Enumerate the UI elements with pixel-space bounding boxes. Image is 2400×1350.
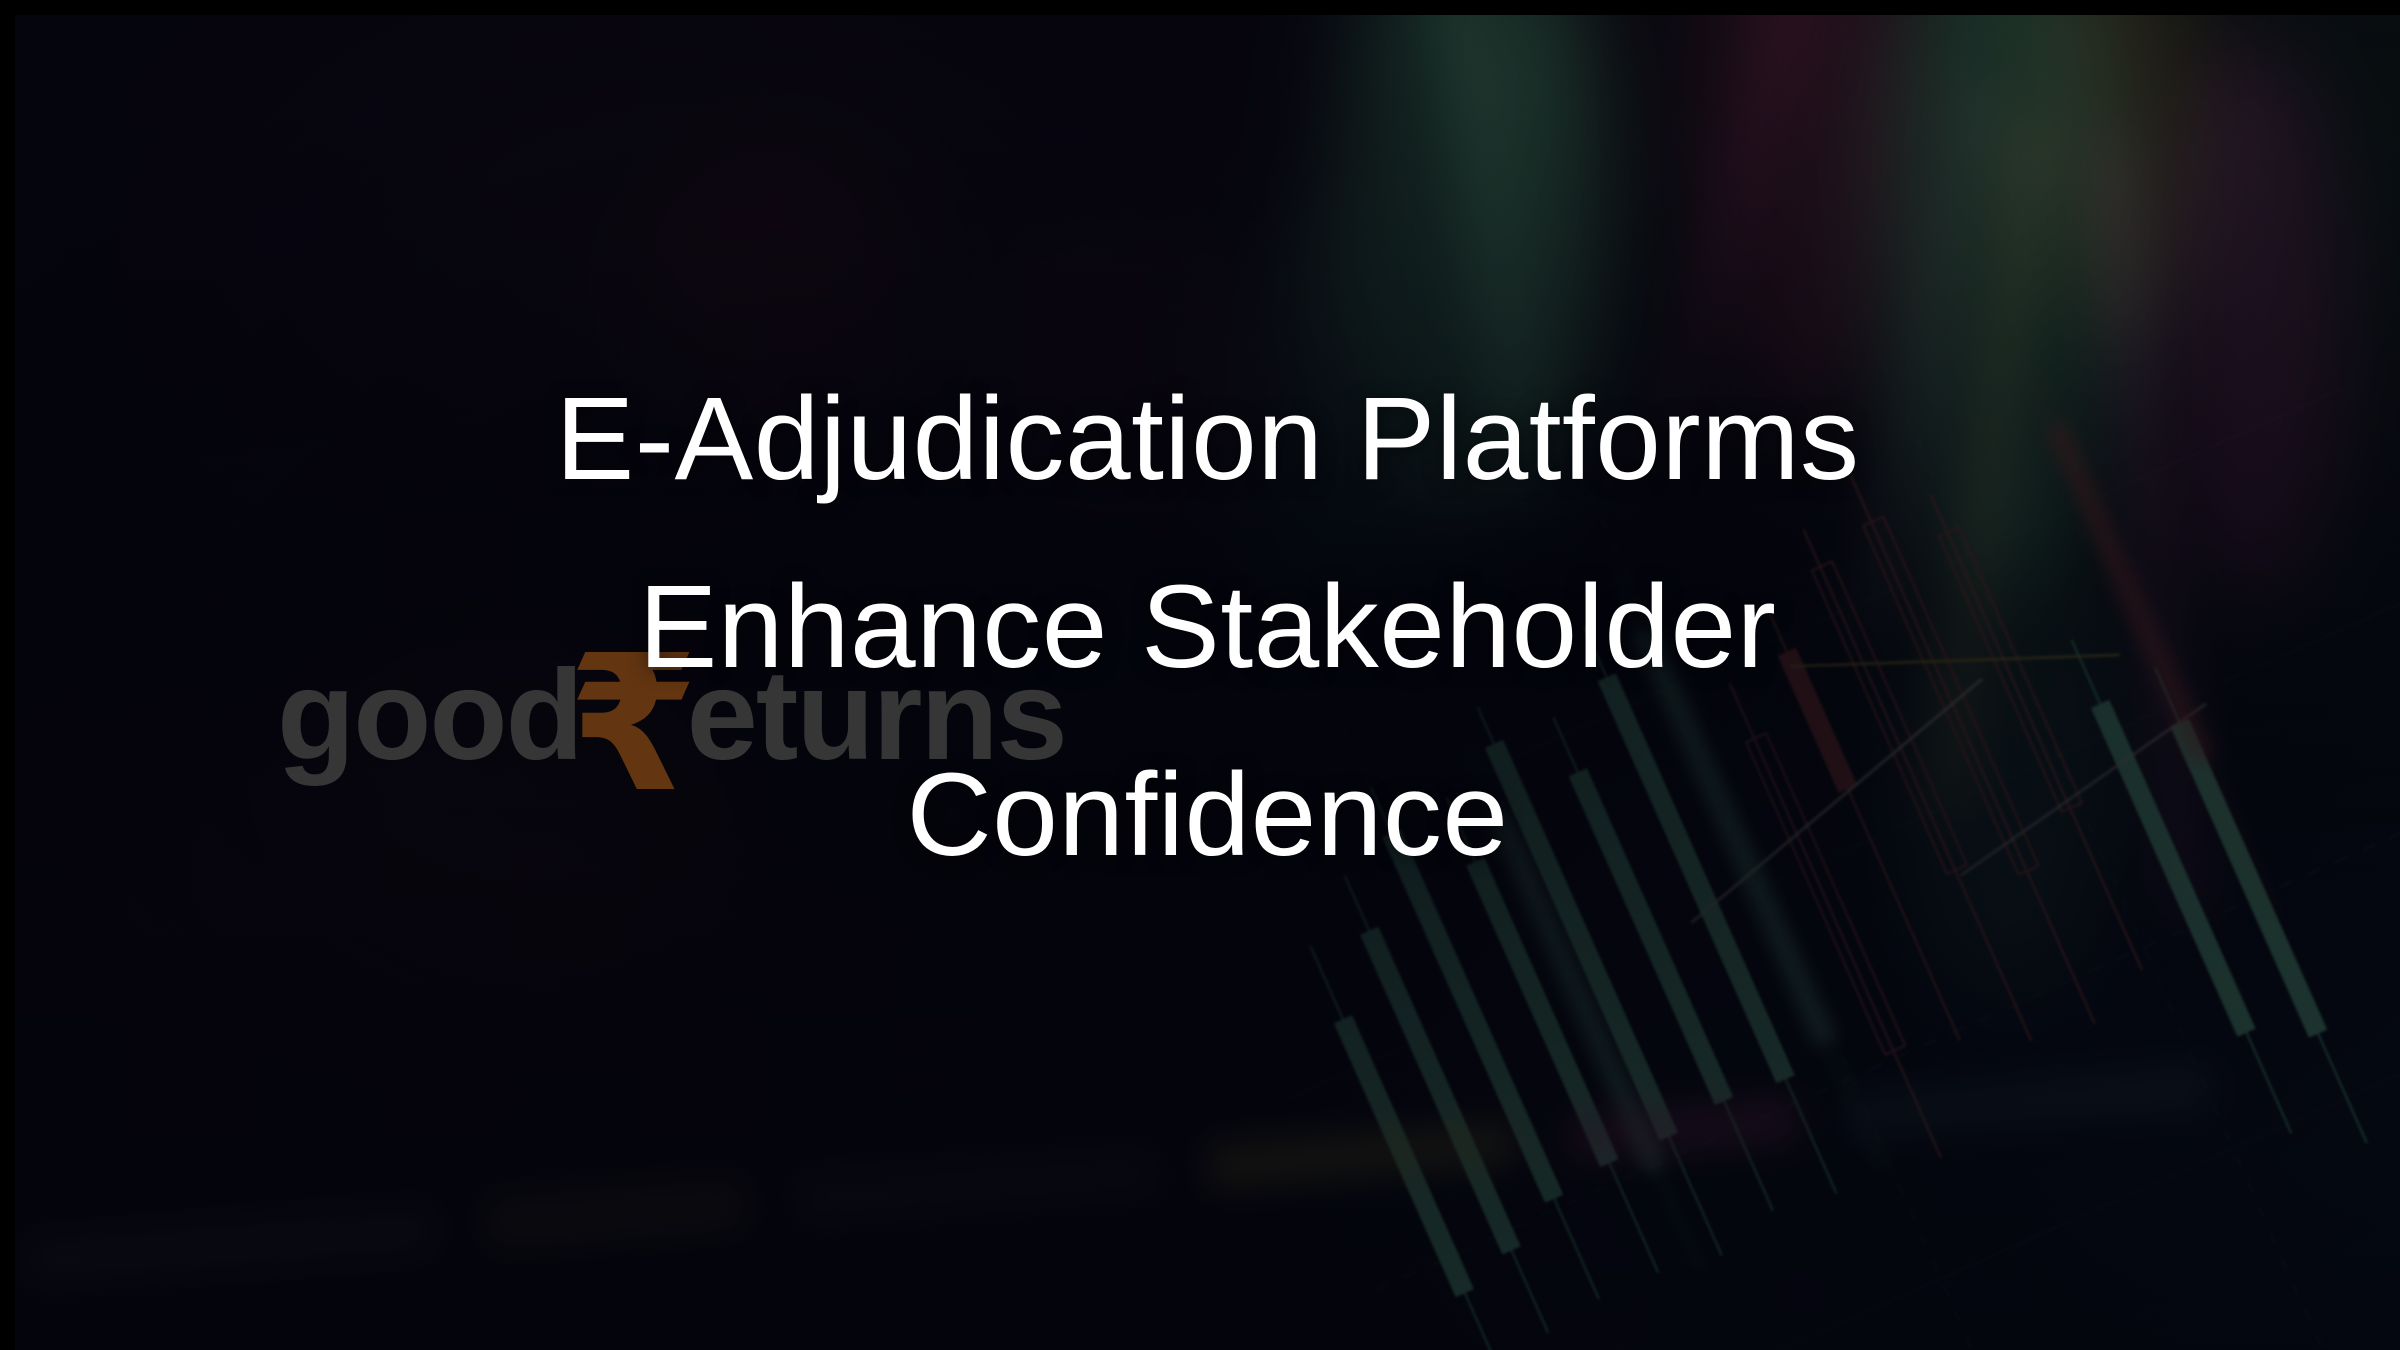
hero-banner: ⇧ B — [0, 0, 2400, 1350]
banner-stage: ⇧ B — [15, 15, 2400, 1350]
headline-line-2: Enhance Stakeholder — [135, 533, 2280, 721]
headline: E-Adjudication Platforms Enhance Stakeho… — [15, 345, 2400, 909]
headline-line-3: Confidence — [135, 721, 2280, 909]
headline-line-1: E-Adjudication Platforms — [135, 345, 2280, 533]
